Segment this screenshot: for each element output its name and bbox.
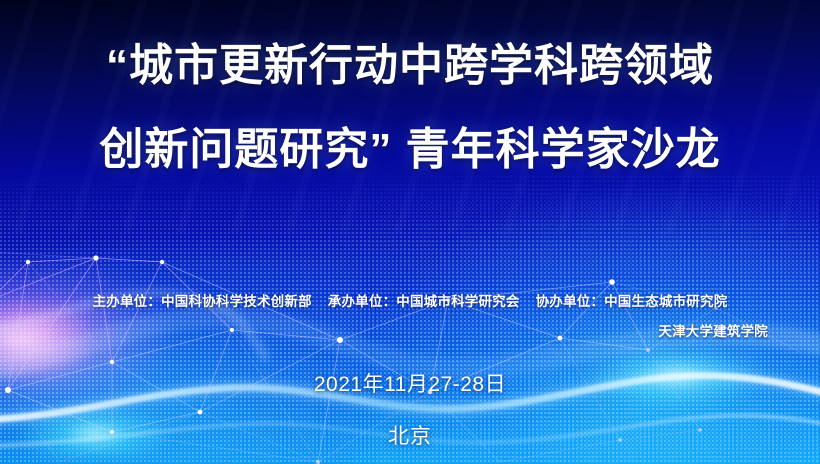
undertaker-name: 中国城市科学研究会 bbox=[396, 294, 519, 309]
title-line-1: “城市更新行动中跨学科跨领域 bbox=[0, 24, 820, 108]
title-line-2: 创新问题研究” 青年科学家沙龙 bbox=[0, 108, 820, 192]
conference-banner: “城市更新行动中跨学科跨领域 创新问题研究” 青年科学家沙龙 主办单位：中国科协… bbox=[0, 0, 820, 464]
organizer-line: 主办单位：中国科协科学技术创新部承办单位：中国城市科学研究会协办单位：中国生态城… bbox=[0, 290, 820, 310]
banner-title: “城市更新行动中跨学科跨领域 创新问题研究” 青年科学家沙龙 bbox=[0, 24, 820, 192]
coorganizer-label: 协办单位： bbox=[536, 294, 605, 309]
event-city: 北京 bbox=[0, 420, 820, 450]
host-name: 中国科协科学技术创新部 bbox=[161, 294, 312, 309]
coorganizer-name: 中国生态城市研究院 bbox=[604, 294, 727, 309]
host-label: 主办单位： bbox=[93, 294, 162, 309]
undertaker-label: 承办单位： bbox=[328, 294, 397, 309]
event-date: 2021年11月27-28日 bbox=[0, 368, 820, 398]
coorganizer-line-2: 天津大学建筑学院 bbox=[658, 320, 768, 340]
